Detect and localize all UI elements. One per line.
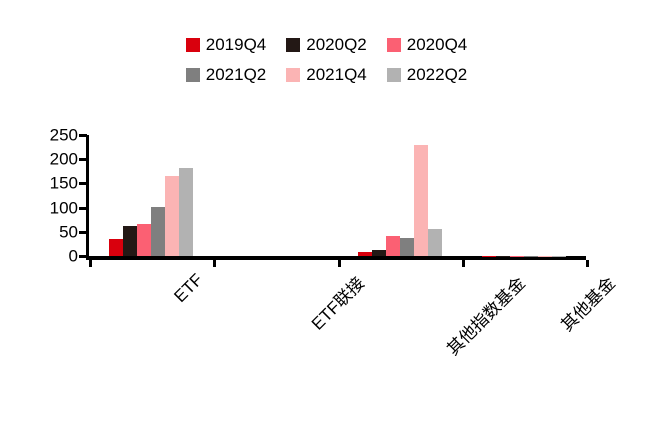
x-category-label: 其他基金 (554, 270, 620, 336)
legend-swatch-icon (286, 38, 300, 52)
y-tick-label: 200 (50, 151, 78, 168)
legend-item-2022q2: 2022Q2 (387, 65, 468, 85)
legend-swatch-icon (387, 68, 401, 82)
legend-label: 2019Q4 (206, 35, 267, 55)
bar-group (109, 128, 193, 256)
legend-swatch-icon (286, 68, 300, 82)
legend-label: 2020Q2 (306, 35, 367, 55)
bar[interactable] (179, 168, 193, 256)
y-tick-label: 0 (69, 248, 78, 265)
y-tick-label: 150 (50, 175, 78, 192)
plot-area: 050100150200250 (0, 128, 653, 268)
bar[interactable] (358, 252, 372, 256)
legend-swatch-icon (186, 68, 200, 82)
legend-row-2: 2021Q2 2021Q4 2022Q2 (0, 60, 653, 90)
legend-label: 2021Q2 (206, 65, 267, 85)
legend-label: 2020Q4 (407, 35, 468, 55)
chart-legend: 2019Q4 2020Q2 2020Q4 2021Q2 2021Q4 (0, 30, 653, 90)
legend-swatch-icon (186, 38, 200, 52)
bar-group (482, 128, 566, 256)
legend-swatch-icon (387, 38, 401, 52)
bar-chart: 2019Q4 2020Q2 2020Q4 2021Q2 2021Q4 (0, 0, 653, 429)
y-axis-tick-labels: 050100150200250 (14, 128, 78, 256)
bar-group (233, 128, 317, 256)
bar-group (358, 128, 442, 256)
legend-item-2020q2: 2020Q2 (286, 35, 367, 55)
bar[interactable] (137, 224, 151, 256)
bar[interactable] (165, 176, 179, 256)
legend-item-2021q2: 2021Q2 (186, 65, 267, 85)
x-tick-mark (89, 260, 92, 267)
legend-label: 2021Q4 (306, 65, 367, 85)
bar[interactable] (151, 207, 165, 256)
x-axis-category-labels: ETFETF联接其他指数基金其他基金 (0, 268, 653, 388)
x-category-label: ETF (171, 270, 208, 307)
legend-label: 2022Q2 (407, 65, 468, 85)
x-category-label: ETF联接 (305, 270, 369, 334)
y-tick-label: 250 (50, 127, 78, 144)
x-category-label: 其他指数基金 (440, 270, 530, 360)
x-tick-mark (586, 260, 589, 267)
legend-item-2021q4: 2021Q4 (286, 65, 367, 85)
legend-item-2020q4: 2020Q4 (387, 35, 468, 55)
bars-layer (89, 128, 586, 256)
bar[interactable] (400, 238, 414, 256)
legend-row-1: 2019Q4 2020Q2 2020Q4 (0, 30, 653, 60)
x-tick-mark (338, 260, 341, 267)
x-tick-mark (213, 260, 216, 267)
x-tick-mark (462, 260, 465, 267)
bar[interactable] (428, 229, 442, 256)
y-tick-label: 50 (59, 223, 78, 240)
x-axis-line (86, 256, 586, 260)
bar[interactable] (414, 145, 428, 256)
y-tick-label: 100 (50, 199, 78, 216)
bar[interactable] (123, 226, 137, 256)
bar[interactable] (109, 239, 123, 256)
bar[interactable] (386, 236, 400, 256)
bar[interactable] (372, 250, 386, 256)
legend-item-2019q4: 2019Q4 (186, 35, 267, 55)
